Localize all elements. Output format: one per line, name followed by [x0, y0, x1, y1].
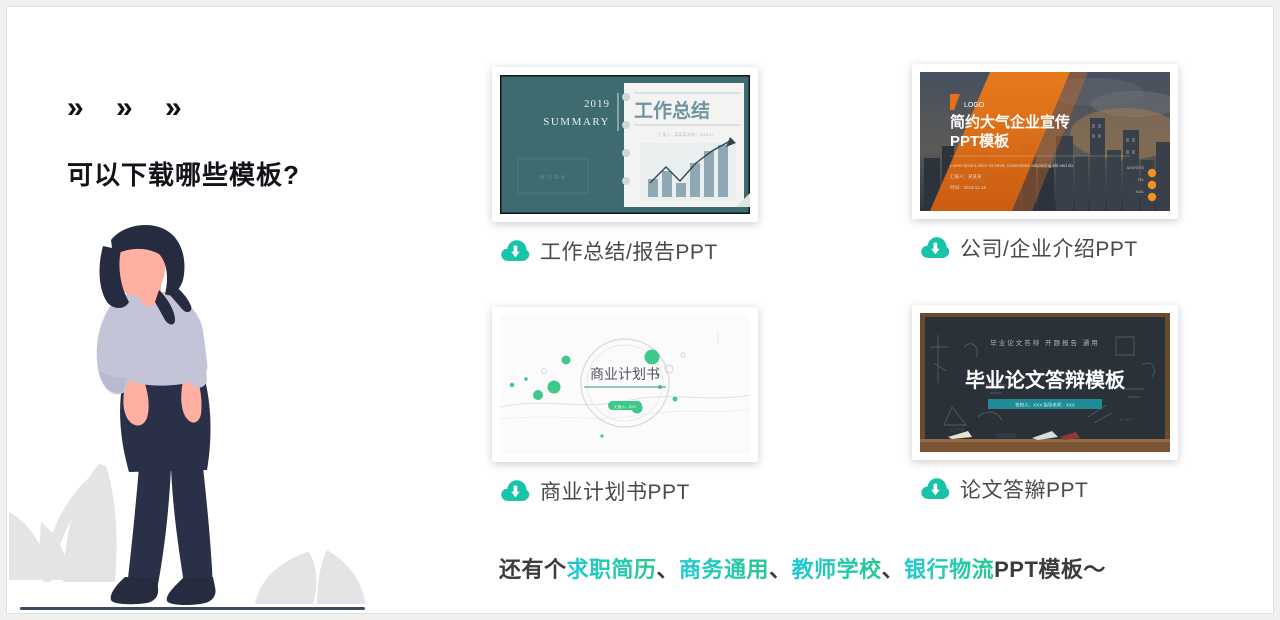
- standing-woman-illustration: [7, 222, 407, 612]
- footer-separator-0: 、: [657, 557, 680, 582]
- svg-text:汇报人：某某某: 汇报人：某某某: [950, 173, 982, 180]
- template-card-work-summary[interactable]: 2019 SUMMARY W O R K 工作总结: [492, 67, 767, 266]
- thumbnail-frame[interactable]: 商业计划书 汇报人：XXX: [492, 307, 758, 462]
- ground-line: [20, 607, 365, 610]
- svg-text:MAIL: MAIL: [1136, 190, 1144, 194]
- card-caption-label: 公司/企业介绍PPT: [960, 233, 1138, 263]
- template-card-thesis-defense[interactable]: ∑ x²+y² E=mc² 毕业论文答辩 开题报告 通用 毕业论文答辩模板 答辩…: [912, 305, 1187, 504]
- svg-text:∑ x²+y²: ∑ x²+y²: [950, 427, 965, 432]
- svg-text:SUMMARY: SUMMARY: [543, 116, 610, 128]
- template-card-business-plan[interactable]: 商业计划书 汇报人：XXX: [492, 307, 767, 506]
- thumbnail-frame[interactable]: LOGO 简约大气企业宣传 PPT模板 Lorem ipsum dolor si…: [912, 64, 1178, 219]
- card-caption[interactable]: 论文答辮PPT: [912, 474, 1187, 504]
- template-card-company-intro[interactable]: LOGO 简约大气企业宣传 PPT模板 Lorem ipsum dolor si…: [912, 64, 1187, 263]
- chevron-decoration: » » »: [67, 93, 194, 123]
- svg-text:时间：2019.12.18: 时间：2019.12.18: [950, 184, 987, 191]
- footer-keyword-2: 教师学校: [792, 557, 882, 582]
- svg-text:简约大气企业宣传: 简约大气企业宣传: [950, 113, 1070, 131]
- left-column: » » » 可以下载哪些模板?: [7, 7, 437, 614]
- thumbnail-frame[interactable]: 2019 SUMMARY W O R K 工作总结: [492, 67, 758, 222]
- svg-text:答辩人：XXX 指导老师：XXX: 答辩人：XXX 指导老师：XXX: [1015, 402, 1075, 409]
- footer-prefix: 还有个: [499, 557, 567, 582]
- svg-text:LOGO: LOGO: [964, 102, 985, 109]
- slide-canvas: » » » 可以下载哪些模板?: [6, 6, 1274, 614]
- card-caption-label: 商业计划书PPT: [540, 476, 690, 506]
- footer-keyword-0: 求职简历: [567, 557, 657, 582]
- page-title: 可以下载哪些模板?: [67, 155, 300, 192]
- thumbnail-frame[interactable]: ∑ x²+y² E=mc² 毕业论文答辩 开题报告 通用 毕业论文答辩模板 答辩…: [912, 305, 1178, 460]
- svg-text:2019: 2019: [584, 98, 610, 110]
- shoe-right: [167, 577, 216, 605]
- svg-text:PPT模板: PPT模板: [950, 132, 1010, 150]
- svg-text:工作总结: 工作总结: [634, 99, 710, 122]
- thumbnail-business-plan: 商业计划书 汇报人：XXX: [500, 315, 750, 454]
- svg-text:商业计划书: 商业计划书: [590, 366, 660, 382]
- thumbnail-work-summary: 2019 SUMMARY W O R K 工作总结: [500, 75, 750, 214]
- card-caption-label: 论文答辮PPT: [960, 474, 1088, 504]
- svg-text:汇报人：XXX: 汇报人：XXX: [614, 404, 636, 409]
- template-card-grid: 2019 SUMMARY W O R K 工作总结: [477, 62, 1217, 542]
- leg-front: [171, 467, 213, 590]
- footer-keyword-3: 银行物流: [904, 557, 994, 582]
- footer-keyword-1: 商务通用: [679, 557, 769, 582]
- svg-text:汇报人：某某某 时间：2019.12: 汇报人：某某某 时间：2019.12: [658, 131, 714, 137]
- footer-keywords-line: 还有个求职简历、商务通用、教师学校、银行物流PPT模板～: [499, 552, 1106, 584]
- shoe-left: [111, 577, 158, 604]
- svg-text:Lorem ipsum dolor sit amet, co: Lorem ipsum dolor sit amet, consectetur …: [950, 163, 1074, 168]
- cloud-download-icon: [500, 238, 530, 264]
- thumbnail-company-intro: LOGO 简约大气企业宣传 PPT模板 Lorem ipsum dolor si…: [920, 72, 1170, 211]
- card-caption[interactable]: 商业计划书PPT: [492, 476, 767, 506]
- svg-text:毕业论文答辩 开题报告 通用: 毕业论文答辩 开题报告 通用: [990, 338, 1100, 347]
- svg-text:ADDRESS: ADDRESS: [1127, 166, 1145, 170]
- footer-separator-1: 、: [769, 557, 792, 582]
- thumbnail-thesis-defense: ∑ x²+y² E=mc² 毕业论文答辩 开题报告 通用 毕业论文答辩模板 答辩…: [920, 313, 1170, 452]
- leg-back: [127, 467, 171, 590]
- svg-text:TEL: TEL: [1137, 178, 1144, 182]
- svg-text:W O R K: W O R K: [540, 175, 567, 181]
- cloud-download-icon: [920, 235, 950, 261]
- card-caption[interactable]: 工作总结/报告PPT: [492, 236, 767, 266]
- card-caption[interactable]: 公司/企业介绍PPT: [912, 233, 1187, 263]
- footer-separator-2: 、: [882, 557, 905, 582]
- card-caption-label: 工作总结/报告PPT: [540, 236, 718, 266]
- svg-text:毕业论文答辩模板: 毕业论文答辩模板: [965, 368, 1126, 392]
- footer-suffix: PPT模板～: [994, 557, 1106, 582]
- svg-text:E=mc²: E=mc²: [1120, 417, 1134, 422]
- cloud-download-icon: [500, 478, 530, 504]
- cloud-download-icon: [920, 476, 950, 502]
